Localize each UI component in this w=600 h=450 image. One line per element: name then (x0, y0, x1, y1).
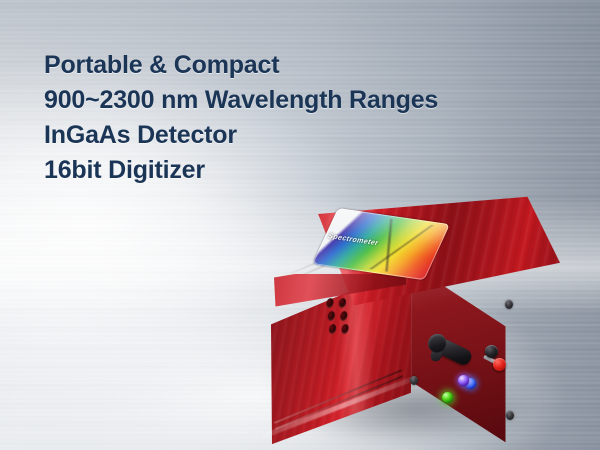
banana-jack-black[interactable] (485, 345, 498, 358)
led-power-green (442, 392, 453, 403)
headline-line-1: Portable & Compact (44, 48, 438, 83)
headline-block: Portable & Compact 900~2300 nm Wavelengt… (44, 48, 438, 188)
panel-screw (410, 376, 418, 385)
led-status-violet (458, 375, 469, 386)
headline-line-2: 900~2300 nm Wavelength Ranges (44, 83, 438, 118)
panel-screw (506, 411, 514, 420)
product-banner: Portable & Compact 900~2300 nm Wavelengt… (0, 0, 600, 450)
headline-line-4: 16bit Digitizer (44, 153, 438, 188)
headline-line-3: InGaAs Detector (44, 118, 438, 153)
panel-screw (505, 300, 513, 309)
banana-jack-red[interactable] (493, 358, 506, 371)
product-device-image: Spectrometer (250, 196, 580, 450)
